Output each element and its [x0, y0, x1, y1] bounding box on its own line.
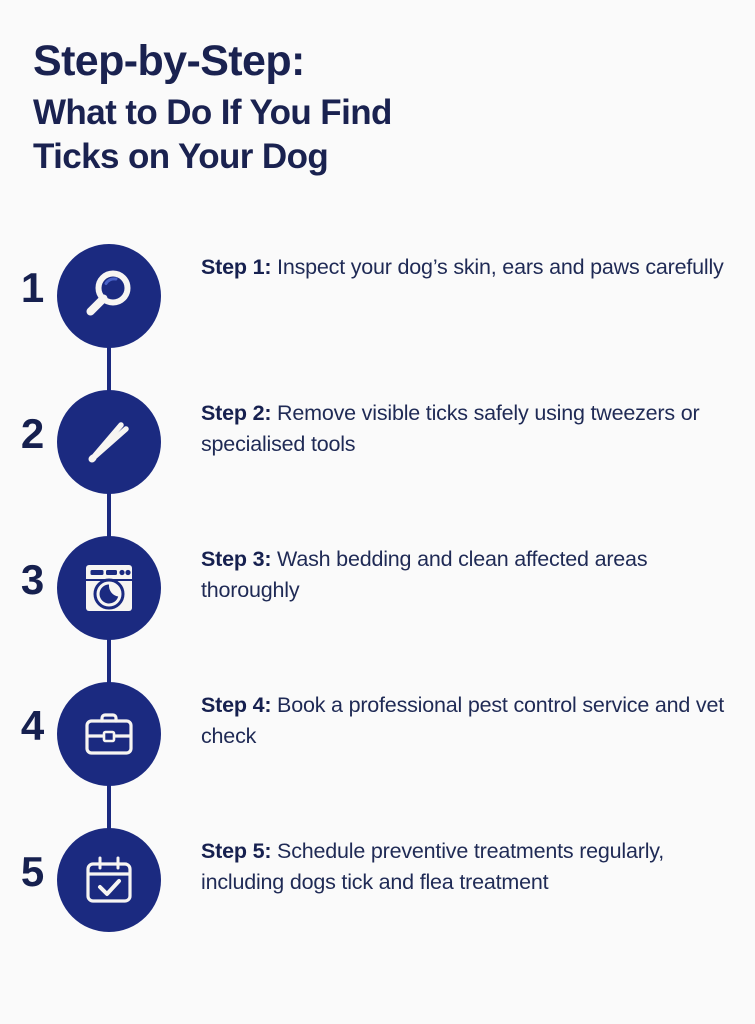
- washing-machine-icon: [78, 557, 140, 619]
- step-number: 1: [10, 264, 54, 312]
- step-label: Step 4:: [201, 693, 271, 717]
- step-number: 4: [10, 702, 54, 750]
- step-icon-circle: [57, 536, 161, 640]
- page-title: Step-by-Step: What to Do If You Find Tic…: [33, 40, 633, 183]
- step-description: Step 2: Remove visible ticks safely usin…: [201, 398, 746, 460]
- step-label: Step 2:: [201, 401, 271, 425]
- step-label: Step 5:: [201, 839, 271, 863]
- step-icon-circle: [57, 682, 161, 786]
- step-description: Step 3: Wash bedding and clean affected …: [201, 544, 746, 606]
- step-icon-circle: [57, 390, 161, 494]
- steps-list: 1 Step 1: Inspect your dog’s skin, ears …: [0, 238, 755, 968]
- step-number: 2: [10, 410, 54, 458]
- title-line-3: Ticks on Your Dog: [33, 139, 633, 174]
- step-description: Step 5: Schedule preventive treatments r…: [201, 836, 746, 898]
- briefcase-icon: [78, 703, 140, 765]
- step-description: Step 4: Book a professional pest control…: [201, 690, 746, 752]
- step-icon-circle: [57, 244, 161, 348]
- title-line-2: What to Do If You Find: [33, 95, 633, 130]
- list-item: 1 Step 1: Inspect your dog’s skin, ears …: [0, 238, 755, 384]
- list-item: 2 Step 2: Remove visible ticks safely us…: [0, 384, 755, 530]
- step-icon-circle: [57, 828, 161, 932]
- step-body: Inspect your dog’s skin, ears and paws c…: [271, 255, 723, 279]
- magnifying-glass-icon: [79, 266, 139, 326]
- step-body: Remove visible ticks safely using tweeze…: [201, 401, 699, 456]
- step-number: 3: [10, 556, 54, 604]
- step-body: Book a professional pest control service…: [201, 693, 724, 748]
- step-label: Step 1:: [201, 255, 271, 279]
- calendar-check-icon: [78, 849, 140, 911]
- step-label: Step 3:: [201, 547, 271, 571]
- step-number: 5: [10, 848, 54, 896]
- title-line-1: Step-by-Step:: [33, 40, 633, 83]
- step-description: Step 1: Inspect your dog’s skin, ears an…: [201, 252, 746, 283]
- list-item: 5 Step 5: Schedule preventive treatments…: [0, 822, 755, 968]
- tweezers-icon: [79, 412, 139, 472]
- list-item: 3 Step 3: Wash bedding and clean affecte…: [0, 530, 755, 676]
- list-item: 4 Step 4: Book a professional pest contr…: [0, 676, 755, 822]
- step-body: Schedule preventive treatments regularly…: [201, 839, 664, 894]
